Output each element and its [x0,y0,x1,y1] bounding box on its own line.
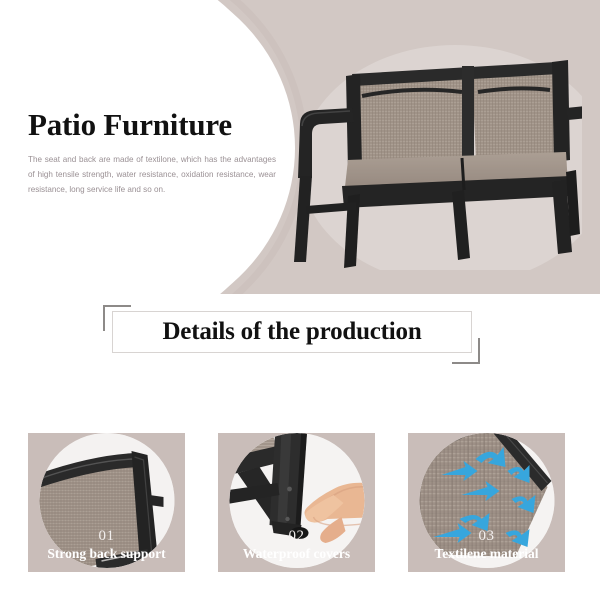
card-caption: 03 Textilene material [408,528,565,562]
product-detail-page: Patio Furniture The seat and back are ma… [0,0,600,600]
feature-card-strong-back-support: 01 Strong back support [28,433,185,572]
section-title: Details of the production [112,311,472,353]
hero-section: Patio Furniture The seat and back are ma… [0,0,600,300]
hero-text-block: Patio Furniture The seat and back are ma… [28,108,283,198]
card-label: Waterproof covers [218,546,375,562]
page-title: Patio Furniture [28,108,283,141]
card-label: Textilene material [408,546,565,562]
card-number: 01 [28,528,185,545]
card-caption: 02 Waterproof covers [218,528,375,562]
card-caption: 01 Strong back support [28,528,185,562]
feature-card-textilene-material: 03 Textilene material [408,433,565,572]
hero-description: The seat and back are made of textilone,… [28,153,276,197]
card-number: 03 [408,528,565,545]
feature-card-waterproof-covers: 02 Waterproof covers [218,433,375,572]
card-number: 02 [218,528,375,545]
feature-cards: 01 Strong back support [0,376,600,576]
section-heading-block: Details of the production [0,300,600,375]
card-label: Strong back support [28,546,185,562]
